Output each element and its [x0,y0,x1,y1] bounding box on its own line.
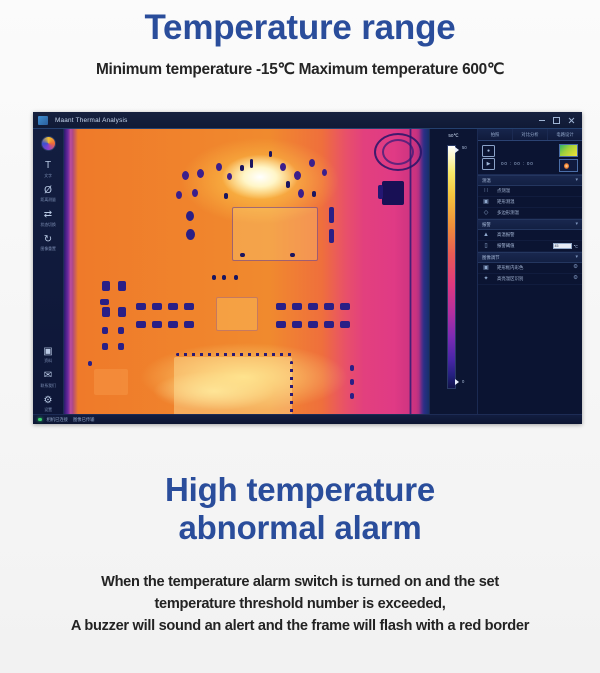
close-icon[interactable] [564,113,579,127]
mail-icon[interactable]: ✉ 联系我们 [33,370,63,388]
bottom-title-line1: High temperature [165,471,435,508]
chevron-down-icon[interactable]: ▾ [575,255,578,260]
window-controls [534,113,579,127]
scale-max-label: 50℃ [430,133,477,139]
window-title: Maant Thermal Analysis [55,117,127,124]
section-header-measure[interactable]: 测温 ▾ [478,175,582,186]
bottom-body-line2: temperature threshold number is exceeded… [0,593,600,615]
section-title-alarm: 报警 [482,222,491,228]
camera-roll-label: 资料 [44,358,52,363]
maximize-icon[interactable] [549,113,564,127]
chevron-down-icon[interactable]: ▾ [575,178,578,183]
gear-icon[interactable]: ⚙ [573,265,578,271]
option-label: 多边形测温 [497,210,519,216]
refresh-tool-label: 图像重置 [40,246,55,251]
ruler-tool-label: 距离测量 [40,197,55,202]
contrast-icon: ✦ [482,275,490,283]
option-frame-color[interactable]: ▣ 矩形框内彩色 ⚙ [478,263,582,274]
panel-tabs: 拍照 对比分析 电路设计 [478,129,582,141]
status-text-connection: 相机已连接 [47,417,68,423]
gear-icon[interactable]: ⚙ [573,276,578,282]
left-toolbar: T 文字 Ø 距离测量 ⇄ 状态切换 ↻ 图像重置 ▣ [33,129,64,424]
promo-page: Temperature range Minimum temperature -1… [0,0,600,673]
temperature-scale-panel: 50℃ 50 0 20℃ [429,129,478,424]
text-tool-label: 文字 [44,173,52,178]
ruler-tool-icon[interactable]: Ø 距离测量 [33,185,63,203]
ruler-tool-glyph: Ø [44,185,52,196]
control-panel: 拍照 对比分析 电路设计 ● ▶ 00 : 00 : 00 [478,129,582,424]
status-text-transfer: 图像已传输 [73,417,94,423]
tab-capture[interactable]: 拍照 [478,129,513,140]
option-label: 报警阈值 [497,243,515,249]
color-scale-bar[interactable] [447,145,456,389]
bottom-body-line3: A buzzer will sound an alert and the fra… [0,615,600,637]
option-label: 点测温 [497,188,510,194]
section-title-image: 图像调节 [482,255,500,261]
palette-thumbnail-ironbow[interactable] [559,159,578,172]
gear-icon[interactable]: ⚙ 设置 [33,395,63,413]
option-alarm-threshold[interactable]: ▯ 报警阈值 45 ℃ [478,241,582,252]
app-logo-icon [38,116,48,125]
palette-thumbnail-rainbow[interactable] [559,144,578,157]
app-body: T 文字 Ø 距离测量 ⇄ 状态切换 ↻ 图像重置 ▣ [33,129,582,424]
swap-tool-icon[interactable]: ⇄ 状态切换 [33,209,63,227]
option-label: 高亮温区识别 [497,276,523,282]
option-label: 矩形框内彩色 [497,265,523,271]
page-subtitle: Minimum temperature -15℃ Maximum tempera… [0,60,600,79]
scale-min-tick: 0 [462,379,464,384]
status-bar: 相机已连接 图像已传输 [33,414,582,424]
thermal-image-viewport[interactable] [64,129,429,424]
option-label: 高温报警 [497,232,515,238]
scale-max-marker-icon[interactable] [455,147,459,153]
tab-circuit[interactable]: 电路设计 [548,129,582,140]
swap-tool-label: 状态切换 [40,222,55,227]
threshold-unit: ℃ [574,244,579,249]
mail-glyph: ✉ [44,370,52,381]
refresh-tool-icon[interactable]: ↻ 图像重置 [33,234,63,252]
bottom-title: High temperature abnormal alarm [0,473,600,546]
swap-tool-glyph: ⇄ [44,209,52,220]
option-area-measure[interactable]: ▣ 矩形测温 [478,197,582,208]
threshold-value: 45 [555,244,559,248]
connection-status-icon [38,418,42,422]
line-measure-icon: ◇ [482,209,490,217]
board-trace-line [409,129,412,424]
page-title: Temperature range [0,9,600,46]
minimize-icon[interactable] [534,113,549,127]
tab-compare[interactable]: 对比分析 [513,129,548,140]
gear-label: 设置 [44,407,52,412]
option-high-temp-alarm[interactable]: ▲ 高温报警 [478,230,582,241]
area-measure-icon: ▣ [482,198,490,206]
threshold-input[interactable]: 45 [553,243,572,249]
camera-roll-glyph: ▣ [43,346,52,357]
bottom-body-line1: When the temperature alarm switch is tur… [0,571,600,593]
thermal-edge-right [419,129,429,424]
thermal-edge-left [64,129,73,424]
palette-glyph [41,136,56,151]
toolbar-bottom-group: ▣ 资料 ✉ 联系我们 ⚙ 设置 [33,346,63,420]
option-point-measure[interactable]: ∷ 点测温 [478,186,582,197]
option-label: 矩形测温 [497,199,515,205]
text-tool-icon[interactable]: T 文字 [33,160,63,178]
window-titlebar: Maant Thermal Analysis [33,112,582,129]
video-icon[interactable]: ▶ [482,158,495,170]
palette-icon[interactable] [33,136,63,153]
threshold-icon: ▯ [482,242,490,250]
alarm-switch-icon: ▲ [482,231,490,239]
scale-min-marker-icon[interactable] [455,379,459,385]
point-measure-icon: ∷ [482,187,490,195]
gear-glyph: ⚙ [44,395,53,406]
option-hot-region[interactable]: ✦ 高亮温区识别 ⚙ [478,274,582,285]
thermal-app-window: Maant Thermal Analysis T 文字 Ø [33,112,582,424]
scale-max-tick: 50 [462,145,467,150]
section-header-alarm[interactable]: 报警 ▾ [478,219,582,230]
chevron-down-icon[interactable]: ▾ [575,222,578,227]
brightness-icon: ▣ [482,264,490,272]
camera-icon[interactable]: ● [482,145,495,157]
section-header-image[interactable]: 图像调节 ▾ [478,252,582,263]
bottom-title-line2: abnormal alarm [0,511,600,546]
mail-label: 联系我们 [40,383,55,388]
recording-timer: 00 : 00 : 00 [501,161,534,166]
palette-thumbnails [559,144,578,174]
camera-roll-icon[interactable]: ▣ 资料 [33,346,63,364]
option-line-measure[interactable]: ◇ 多边形测温 [478,208,582,219]
refresh-tool-glyph: ↻ [44,234,52,245]
bottom-description: When the temperature alarm switch is tur… [0,571,600,638]
capture-section: ● ▶ 00 : 00 : 00 [478,141,582,175]
section-title-measure: 测温 [482,178,491,184]
thermal-image [64,129,429,424]
text-tool-glyph: T [45,160,51,171]
